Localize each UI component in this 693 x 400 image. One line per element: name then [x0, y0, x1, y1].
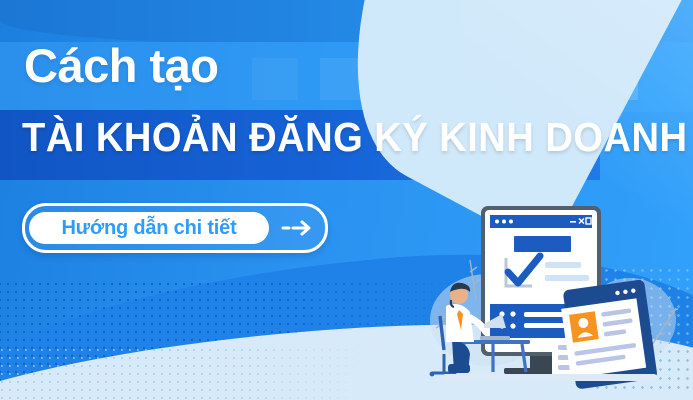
banner-headline: TÀI KHOẢN ĐĂNG KÝ KINH DOANH [22, 117, 687, 158]
banner-kicker: Cách tạo [24, 42, 219, 89]
cta-pill[interactable]: Hướng dẫn chi tiết [29, 212, 269, 244]
halftone-dots-light [0, 346, 420, 400]
promo-banner: Cách tạo TÀI KHOẢN ĐĂNG KÝ KINH DOANH Hư… [0, 0, 693, 400]
business-registration-illustration [418, 188, 693, 400]
decorative-square [252, 58, 298, 100]
cta-button[interactable]: Hướng dẫn chi tiết [22, 203, 328, 253]
cta-label: Hướng dẫn chi tiết [61, 217, 236, 240]
dashed-arrow-right-icon [269, 219, 325, 237]
user-profile-card-icon [569, 311, 599, 342]
mobile-device-icon [559, 279, 658, 390]
